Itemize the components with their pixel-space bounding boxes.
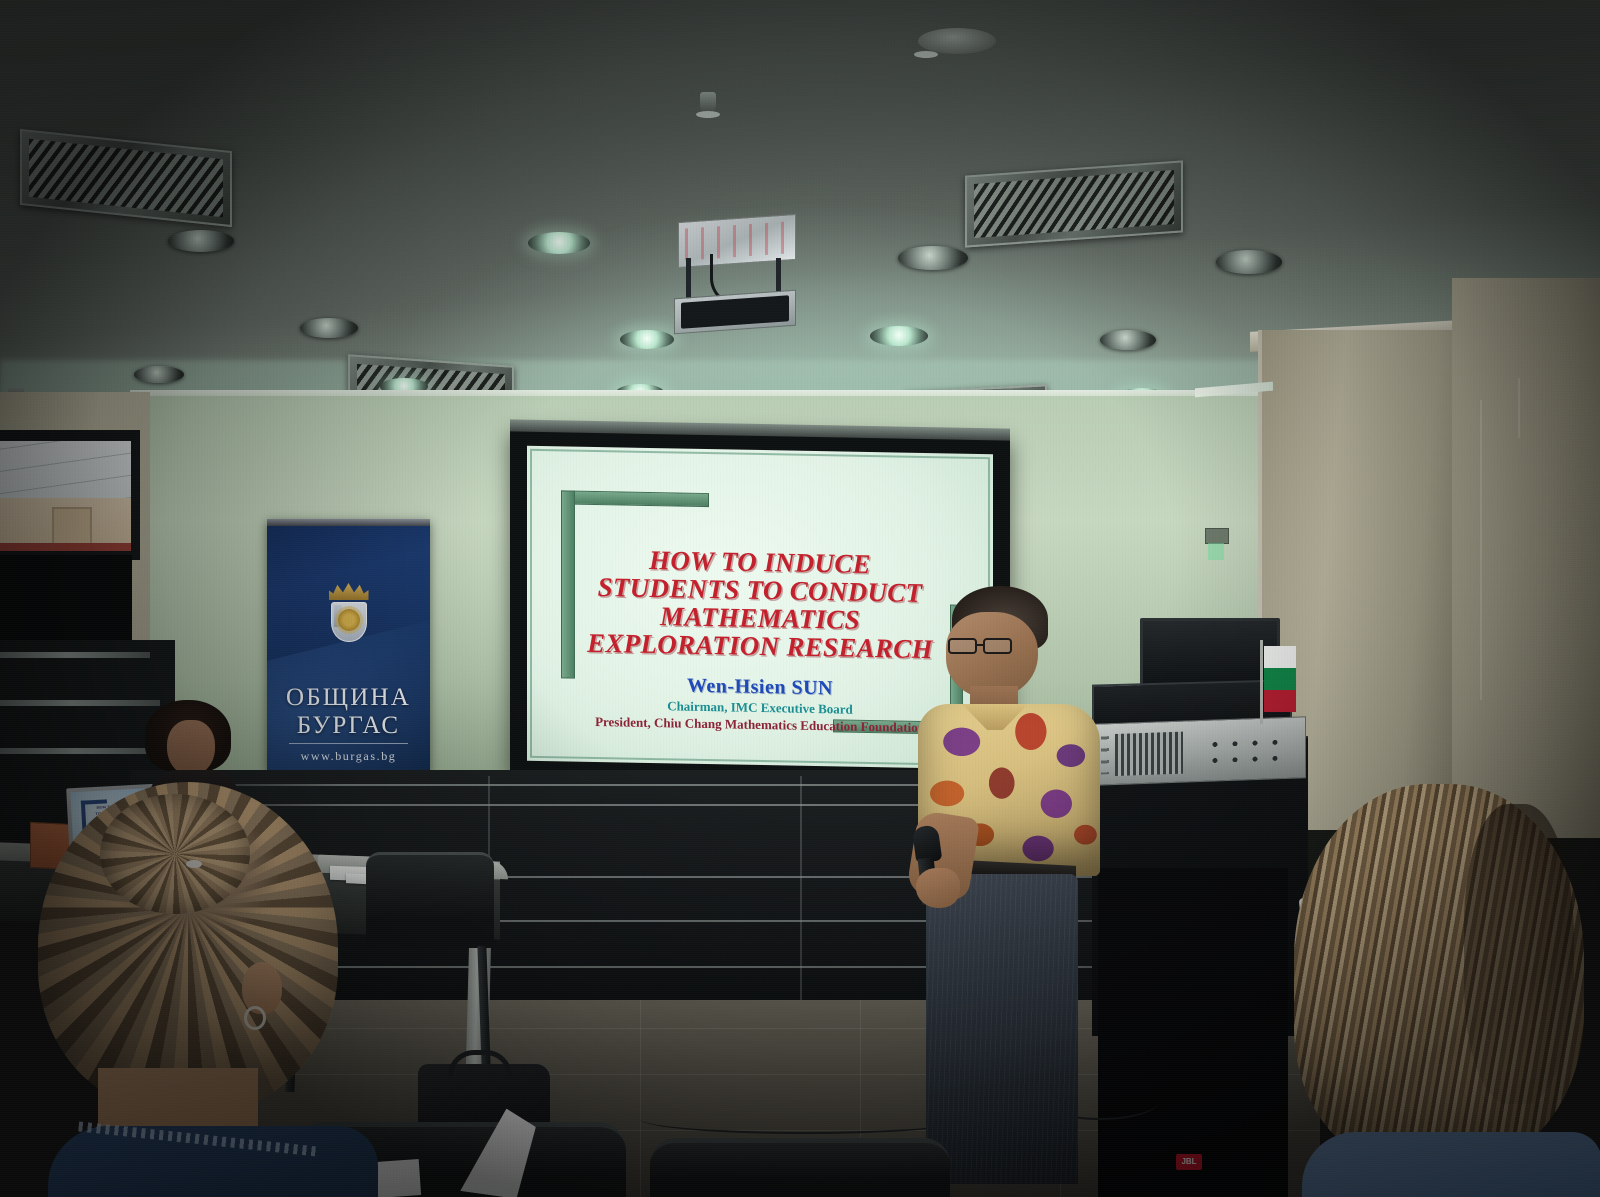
audience-left-ear <box>242 962 282 1014</box>
presenter-trousers <box>926 874 1078 1184</box>
rack-connector-ports <box>1205 734 1295 771</box>
jbl-logo: JBL <box>1176 1154 1202 1170</box>
presenter-glasses <box>948 638 1020 655</box>
hair-pin <box>186 860 202 868</box>
stair-tread <box>0 748 168 754</box>
presenter-hand <box>916 868 960 908</box>
presenter <box>908 586 1108 1197</box>
ceiling-downlight <box>528 232 590 254</box>
wall-crack <box>1518 378 1520 438</box>
ceiling-downlight <box>168 230 234 252</box>
ceiling-projector <box>672 218 798 330</box>
audience-left-hair-bun <box>100 794 250 914</box>
audience-right-top <box>1302 1132 1600 1197</box>
projector-body <box>674 290 796 335</box>
stair-tread <box>0 700 160 706</box>
ceiling-downlight <box>1216 250 1282 274</box>
wall-far-right <box>1452 278 1600 838</box>
rack-slot-bank <box>1115 732 1183 776</box>
photo-scene: ОБЩИНА БУРГАС www.burgas.bg HOW TO INDUC… <box>0 0 1600 1197</box>
wall-crack <box>1480 400 1482 700</box>
av-equipment-stack <box>1090 600 1320 880</box>
ceiling-air-vent <box>965 160 1183 247</box>
sprinkler-head <box>700 92 716 114</box>
coat-of-arms-icon <box>321 583 377 645</box>
panel-seam <box>800 776 802 1016</box>
window-to-adjacent-room <box>0 430 140 560</box>
ceiling-speaker <box>918 28 996 54</box>
ceiling-downlight <box>898 246 968 270</box>
audience-right-hair-shadow <box>1464 804 1574 1104</box>
banner-url: www.burgas.bg <box>267 749 430 764</box>
wall-socket <box>1205 528 1229 544</box>
pa-speaker: JBL <box>1098 868 1288 1197</box>
audience-member-right <box>1294 784 1600 1197</box>
chair-back-foreground <box>650 1138 950 1197</box>
banner-line-1: ОБЩИНА <box>267 684 430 712</box>
stair-tread <box>0 652 150 658</box>
banner-divider <box>289 743 408 744</box>
ceiling-downlight <box>620 330 674 349</box>
av-rack-unit <box>1094 716 1306 785</box>
banner-line-2: БУРГАС <box>267 712 430 740</box>
ceiling-downlight <box>300 318 358 338</box>
floor-tile-line <box>640 1000 641 1197</box>
hoop-earring <box>244 1006 266 1030</box>
flag-pole <box>1260 640 1263 724</box>
banner-top-bar <box>267 519 430 526</box>
moderator-face <box>167 720 215 776</box>
ceiling-downlight <box>870 326 928 346</box>
ceiling-downlight <box>1100 330 1156 350</box>
audience-member-left <box>38 782 368 1197</box>
slide-corner-bracket-top <box>561 490 709 507</box>
ceiling-downlight <box>134 366 184 383</box>
chair-back <box>366 852 494 948</box>
bulgarian-flag-icon <box>1264 646 1296 712</box>
burgas-municipality-banner: ОБЩИНА БУРГАС www.burgas.bg <box>267 519 430 772</box>
